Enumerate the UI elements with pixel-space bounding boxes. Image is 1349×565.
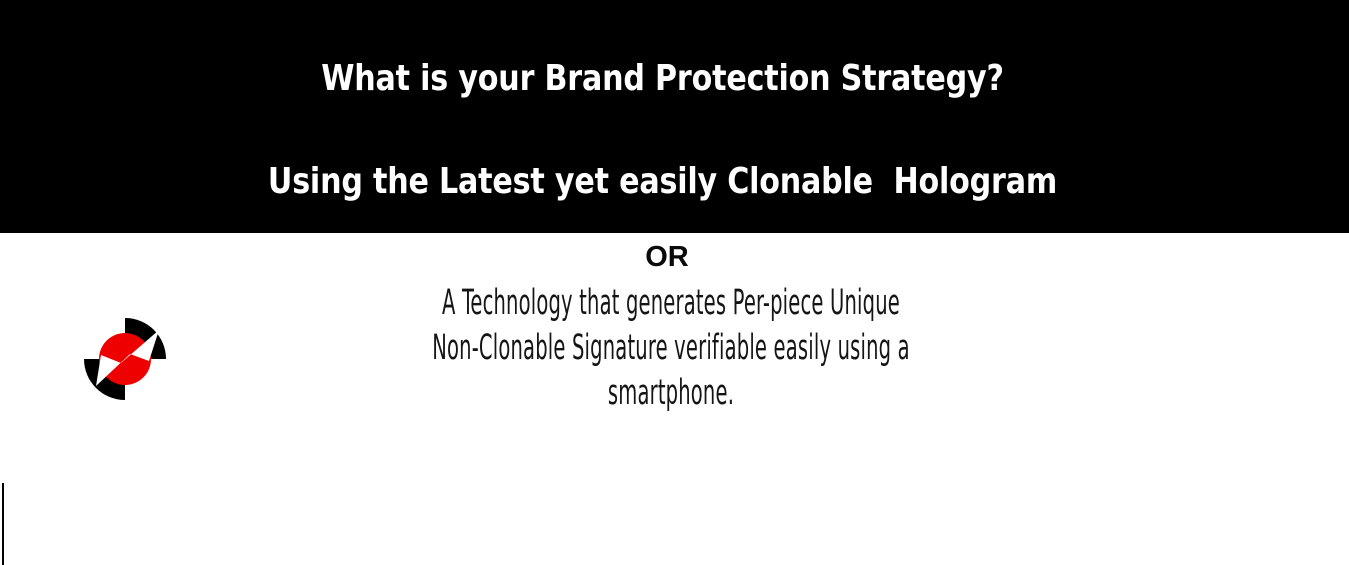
pinwheel-arrow-logo	[81, 316, 169, 402]
body-copy-line-3: smartphone.	[255, 371, 1087, 416]
body-copy-line-1: A Technology that generates Per-piece Un…	[255, 281, 1087, 326]
left-edge-rule	[2, 483, 4, 565]
body-copy: A Technology that generates Per-piece Un…	[0, 281, 1342, 416]
body-copy-line-2: Non-Clonable Signature verifiable easily…	[255, 326, 1087, 371]
header-banner: What is your Brand Protection Strategy? …	[0, 0, 1349, 233]
or-separator-label: OR	[0, 238, 1334, 276]
headline-primary: What is your Brand Protection Strategy?	[46, 56, 1278, 102]
slide-canvas: What is your Brand Protection Strategy? …	[0, 0, 1349, 565]
headline-secondary: Using the Latest yet easily Clonable Hol…	[46, 159, 1278, 205]
